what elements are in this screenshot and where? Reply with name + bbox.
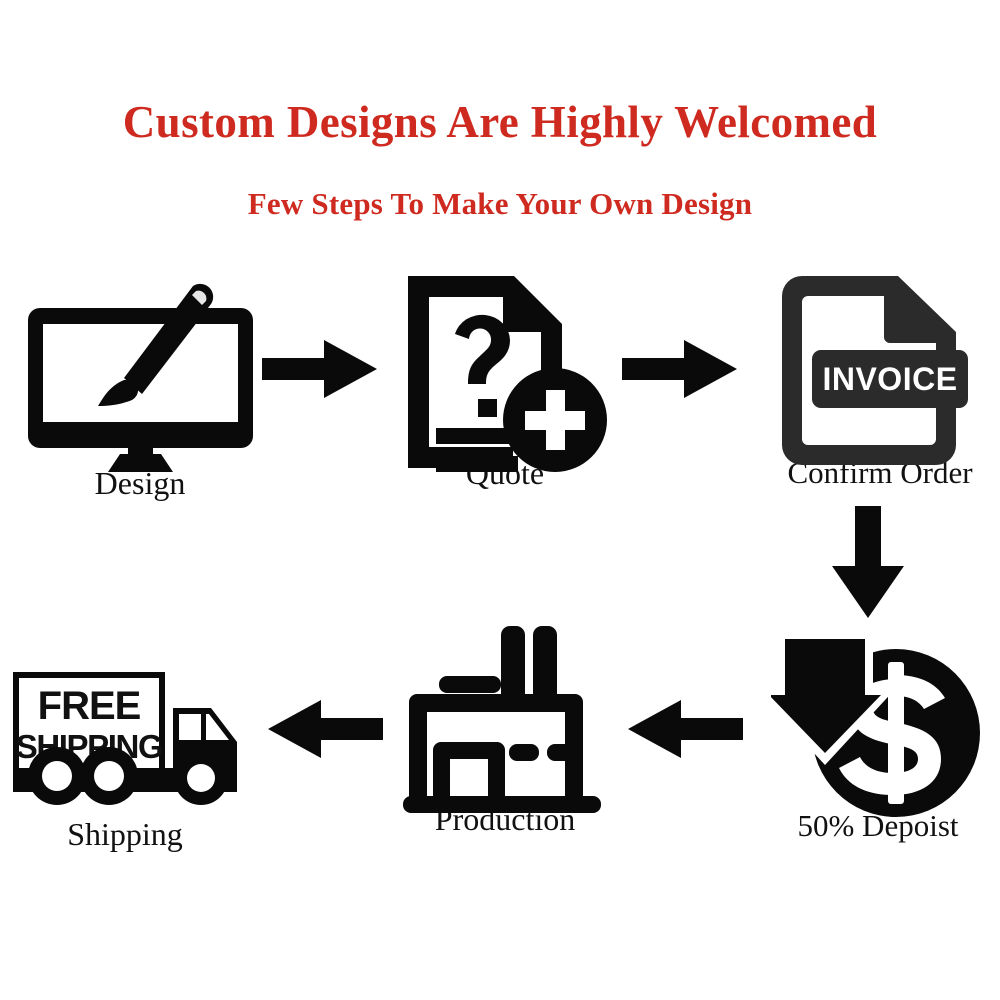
step-deposit: 50% Depoist (758, 625, 998, 841)
document-question-plus-icon (385, 272, 625, 457)
step-shipping: FREE SHIPPING Shipping (5, 668, 245, 850)
arrow-quote-to-confirm-order (622, 338, 737, 405)
monitor-paintbrush-icon (20, 282, 260, 467)
step-shipping-label: Shipping (5, 818, 245, 850)
arrow-design-to-quote (262, 338, 377, 405)
svg-text:FREE: FREE (38, 684, 141, 728)
step-confirm-order: INVOICE Confirm Order (760, 272, 1000, 488)
infographic-canvas: Custom Designs Are Highly Welcomed Few S… (0, 0, 1000, 1000)
step-design: Design (20, 282, 260, 499)
dollar-circle-down-arrow-icon (758, 625, 998, 810)
delivery-truck-icon: FREE SHIPPING (5, 668, 245, 818)
page-title: Custom Designs Are Highly Welcomed (0, 96, 1000, 148)
arrow-confirm-order-to-deposit (832, 506, 904, 623)
invoice-document-icon: INVOICE (760, 272, 1000, 457)
step-quote: Quote (385, 272, 625, 489)
svg-text:INVOICE: INVOICE (822, 361, 957, 397)
step-production: Production (385, 618, 625, 835)
page-subtitle: Few Steps To Make Your Own Design (0, 186, 1000, 222)
arrow-production-to-shipping (268, 698, 383, 765)
factory-icon (385, 618, 625, 803)
arrow-deposit-to-production (628, 698, 743, 765)
